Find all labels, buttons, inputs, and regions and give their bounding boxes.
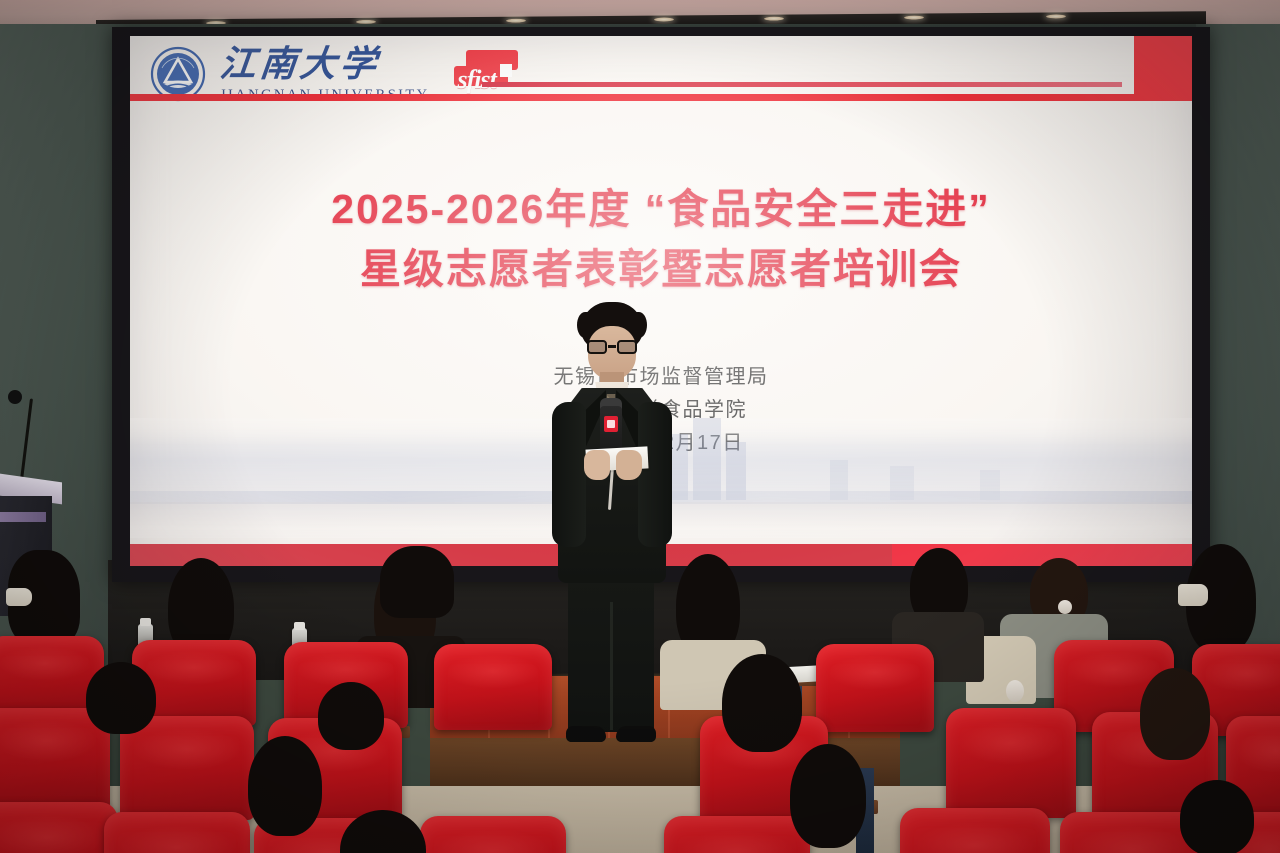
glasses-lens-left — [587, 340, 607, 354]
sfist-logo-text: sfist — [458, 65, 496, 95]
header-corner-accent — [1134, 36, 1192, 94]
recessed-ceiling-light — [904, 15, 924, 19]
slide-title-line-2: 星级志愿者表彰暨志愿者培训会 — [130, 244, 1192, 294]
auditorium-seat[interactable] — [816, 644, 934, 732]
auditorium-seat[interactable] — [104, 812, 250, 853]
glasses-bridge — [608, 345, 616, 348]
header-rule — [482, 82, 1122, 87]
recessed-ceiling-light — [1046, 14, 1066, 18]
face-mask — [1178, 584, 1208, 606]
attendee — [380, 546, 454, 618]
recessed-ceiling-light — [654, 17, 674, 21]
auditorium-seat[interactable] — [946, 708, 1076, 818]
university-name-cn: 江南大学 — [218, 46, 431, 82]
recessed-ceiling-light — [764, 17, 784, 21]
auditorium-seat[interactable] — [434, 644, 552, 730]
presenter-hand-left — [584, 450, 610, 480]
lectern-accent-strip — [0, 512, 46, 522]
audience-area — [0, 540, 1280, 853]
attendee — [86, 662, 156, 734]
attendee — [248, 736, 322, 836]
presenter-arm-right — [638, 402, 672, 547]
bottle-cap — [294, 622, 305, 630]
header-red-strip — [130, 94, 1192, 101]
handheld-microphone-icon — [600, 406, 622, 454]
face-mask — [6, 588, 32, 606]
attendee — [318, 682, 384, 750]
sfist-logo-icon: sfist — [452, 48, 524, 100]
auditorium-seat[interactable] — [120, 716, 254, 820]
attendee — [1140, 668, 1210, 760]
auditorium-scene: 江南大学 JIANGNAN UNIVERSITY sfist 2025-2026… — [0, 0, 1280, 853]
hair-tie — [1006, 680, 1024, 702]
auditorium-seat[interactable] — [900, 808, 1050, 853]
presenter-hand-right — [616, 450, 642, 480]
bottle-cap — [140, 618, 151, 626]
glasses-icon — [586, 340, 638, 354]
gooseneck-microphone-icon — [8, 390, 22, 404]
attendee — [790, 744, 866, 848]
glasses-lens-right — [617, 340, 637, 354]
attendee — [1180, 780, 1254, 853]
auditorium-seat[interactable] — [0, 802, 118, 853]
city-building — [693, 418, 721, 500]
microphone-station-logo — [604, 416, 618, 432]
slide-header: 江南大学 JIANGNAN UNIVERSITY sfist — [130, 36, 1192, 118]
slide-title-line-1: 2025-2026年度 “食品安全三走进” — [130, 184, 1192, 234]
presenter-arm-left — [552, 402, 586, 547]
hair-tie — [1058, 600, 1072, 614]
recessed-ceiling-light — [506, 19, 526, 23]
auditorium-seat[interactable] — [420, 816, 566, 853]
sfist-notch — [500, 64, 512, 77]
auditorium-seat[interactable] — [664, 816, 810, 853]
attendee — [722, 654, 802, 752]
slide-title-block: 2025-2026年度 “食品安全三走进” 星级志愿者表彰暨志愿者培训会 — [130, 184, 1192, 294]
